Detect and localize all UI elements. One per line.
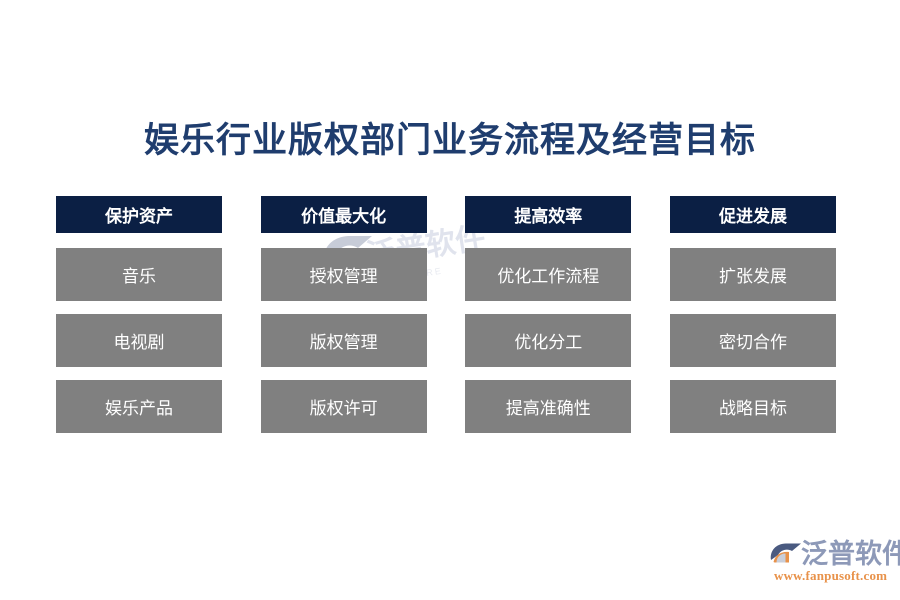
column-protect-assets: 保护资产 音乐 电视剧 娱乐产品 — [56, 196, 222, 433]
grid-cell[interactable]: 电视剧 — [56, 314, 222, 367]
brand-name: 泛普软件 — [801, 538, 900, 570]
grid-cell[interactable]: 扩张发展 — [670, 248, 836, 301]
brand-logo: 泛普软件 www.fanpusoft.com — [768, 538, 892, 584]
grid-cell[interactable]: 音乐 — [56, 248, 222, 301]
column-header[interactable]: 价值最大化 — [261, 196, 427, 233]
grid-cell[interactable]: 密切合作 — [670, 314, 836, 367]
grid-cell[interactable]: 优化分工 — [465, 314, 631, 367]
brand-url[interactable]: www.fanpusoft.com — [774, 568, 887, 583]
column-header[interactable]: 提高效率 — [465, 196, 631, 233]
column-promote-development: 促进发展 扩张发展 密切合作 战略目标 — [670, 196, 836, 433]
objective-grid: 保护资产 音乐 电视剧 娱乐产品 价值最大化 授权管理 版权管理 版权许可 提高… — [56, 196, 836, 433]
slide-canvas: 娱乐行业版权部门业务流程及经营目标 泛普软件 SOFTWARE 保护资产 音乐 … — [0, 0, 900, 600]
page-title: 娱乐行业版权部门业务流程及经营目标 — [0, 118, 900, 164]
grid-cell[interactable]: 版权许可 — [261, 380, 427, 433]
grid-cell[interactable]: 授权管理 — [261, 248, 427, 301]
grid-cell[interactable]: 提高准确性 — [465, 380, 631, 433]
grid-cell[interactable]: 娱乐产品 — [56, 380, 222, 433]
grid-cell[interactable]: 优化工作流程 — [465, 248, 631, 301]
column-header[interactable]: 促进发展 — [670, 196, 836, 233]
grid-cell[interactable]: 战略目标 — [670, 380, 836, 433]
column-improve-efficiency: 提高效率 优化工作流程 优化分工 提高准确性 — [465, 196, 631, 433]
grid-cell[interactable]: 版权管理 — [261, 314, 427, 367]
column-maximize-value: 价值最大化 授权管理 版权管理 版权许可 — [261, 196, 427, 433]
column-header[interactable]: 保护资产 — [56, 196, 222, 233]
fanpu-logo-icon — [768, 541, 802, 569]
